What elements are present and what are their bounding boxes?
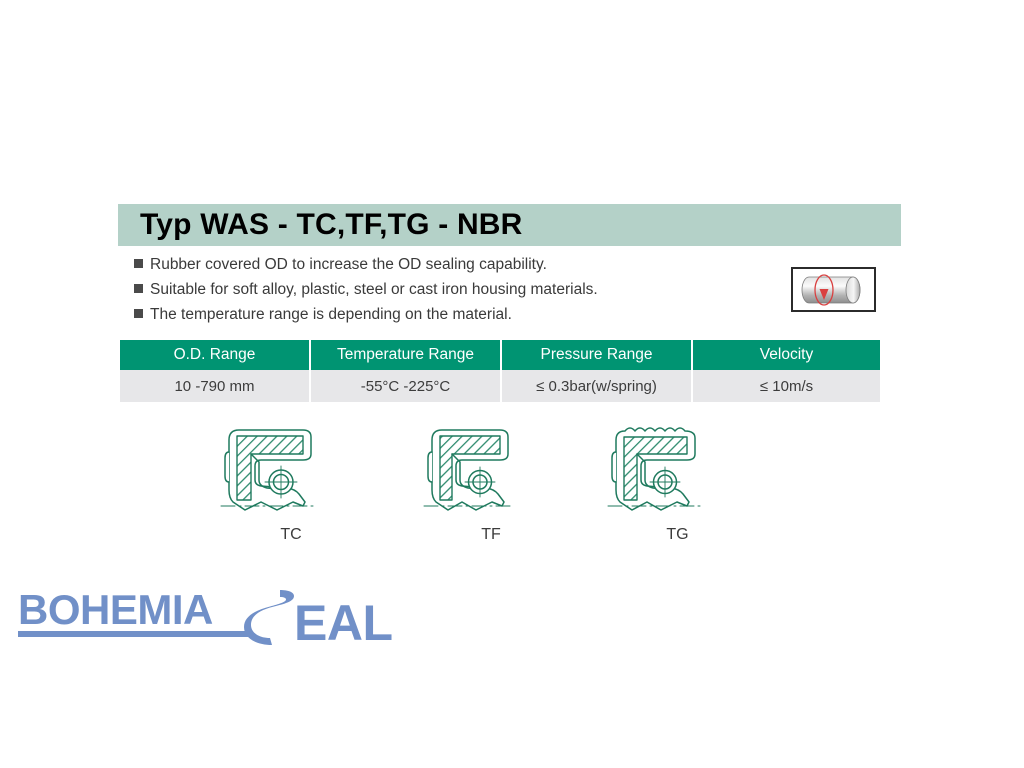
page-title: Typ WAS - TC,TF,TG - NBR xyxy=(140,208,523,242)
company-logo: BOHEMIA EAL xyxy=(18,588,418,650)
seal-label-tf: TF xyxy=(462,526,520,544)
list-item-label: Suitable for soft alloy, plastic, steel … xyxy=(150,280,598,300)
list-item-label: Rubber covered OD to increase the OD sea… xyxy=(150,255,547,275)
seal-label-tc: TC xyxy=(257,526,325,544)
table-row: 10 -790 mm -55°C -225°C ≤ 0.3bar(w/sprin… xyxy=(120,370,880,402)
list-item-label: The temperature range is depending on th… xyxy=(150,305,512,325)
bullet-square-icon xyxy=(134,309,143,318)
cell-temperature-range: -55°C -225°C xyxy=(311,370,500,402)
seal-figure-tg: TG xyxy=(603,418,708,544)
cell-pressure-range: ≤ 0.3bar(w/spring) xyxy=(502,370,691,402)
bullet-square-icon xyxy=(134,259,143,268)
bullet-square-icon xyxy=(134,284,143,293)
title-band: Typ WAS - TC,TF,TG - NBR xyxy=(118,204,901,246)
list-item: The temperature range is depending on th… xyxy=(134,305,754,327)
spec-table: O.D. Range Temperature Range Pressure Ra… xyxy=(118,340,882,402)
seal-diagram-tg xyxy=(603,418,708,523)
column-header-velocity: Velocity xyxy=(693,340,880,370)
rotating-shaft-icon xyxy=(791,267,876,312)
list-item: Suitable for soft alloy, plastic, steel … xyxy=(134,280,754,302)
seal-diagram-tf xyxy=(420,418,520,523)
seal-diagram-tc xyxy=(215,418,325,523)
seal-figure-tc: TC xyxy=(215,418,325,544)
logo-underline xyxy=(18,631,248,637)
table-header-row: O.D. Range Temperature Range Pressure Ra… xyxy=(120,340,880,370)
feature-list: Rubber covered OD to increase the OD sea… xyxy=(134,255,754,330)
column-header-temperature-range: Temperature Range xyxy=(311,340,500,370)
column-header-pressure-range: Pressure Range xyxy=(502,340,691,370)
seal-figure-tf: TF xyxy=(420,418,520,544)
list-item: Rubber covered OD to increase the OD sea… xyxy=(134,255,754,277)
logo-bohemia-text: BOHEMIA xyxy=(18,588,213,633)
cell-velocity: ≤ 10m/s xyxy=(693,370,880,402)
seal-label-tg: TG xyxy=(647,526,708,544)
logo-s-swash xyxy=(244,590,294,645)
logo-eal-text: EAL xyxy=(294,595,393,650)
column-header-od-range: O.D. Range xyxy=(120,340,309,370)
cell-od-range: 10 -790 mm xyxy=(120,370,309,402)
